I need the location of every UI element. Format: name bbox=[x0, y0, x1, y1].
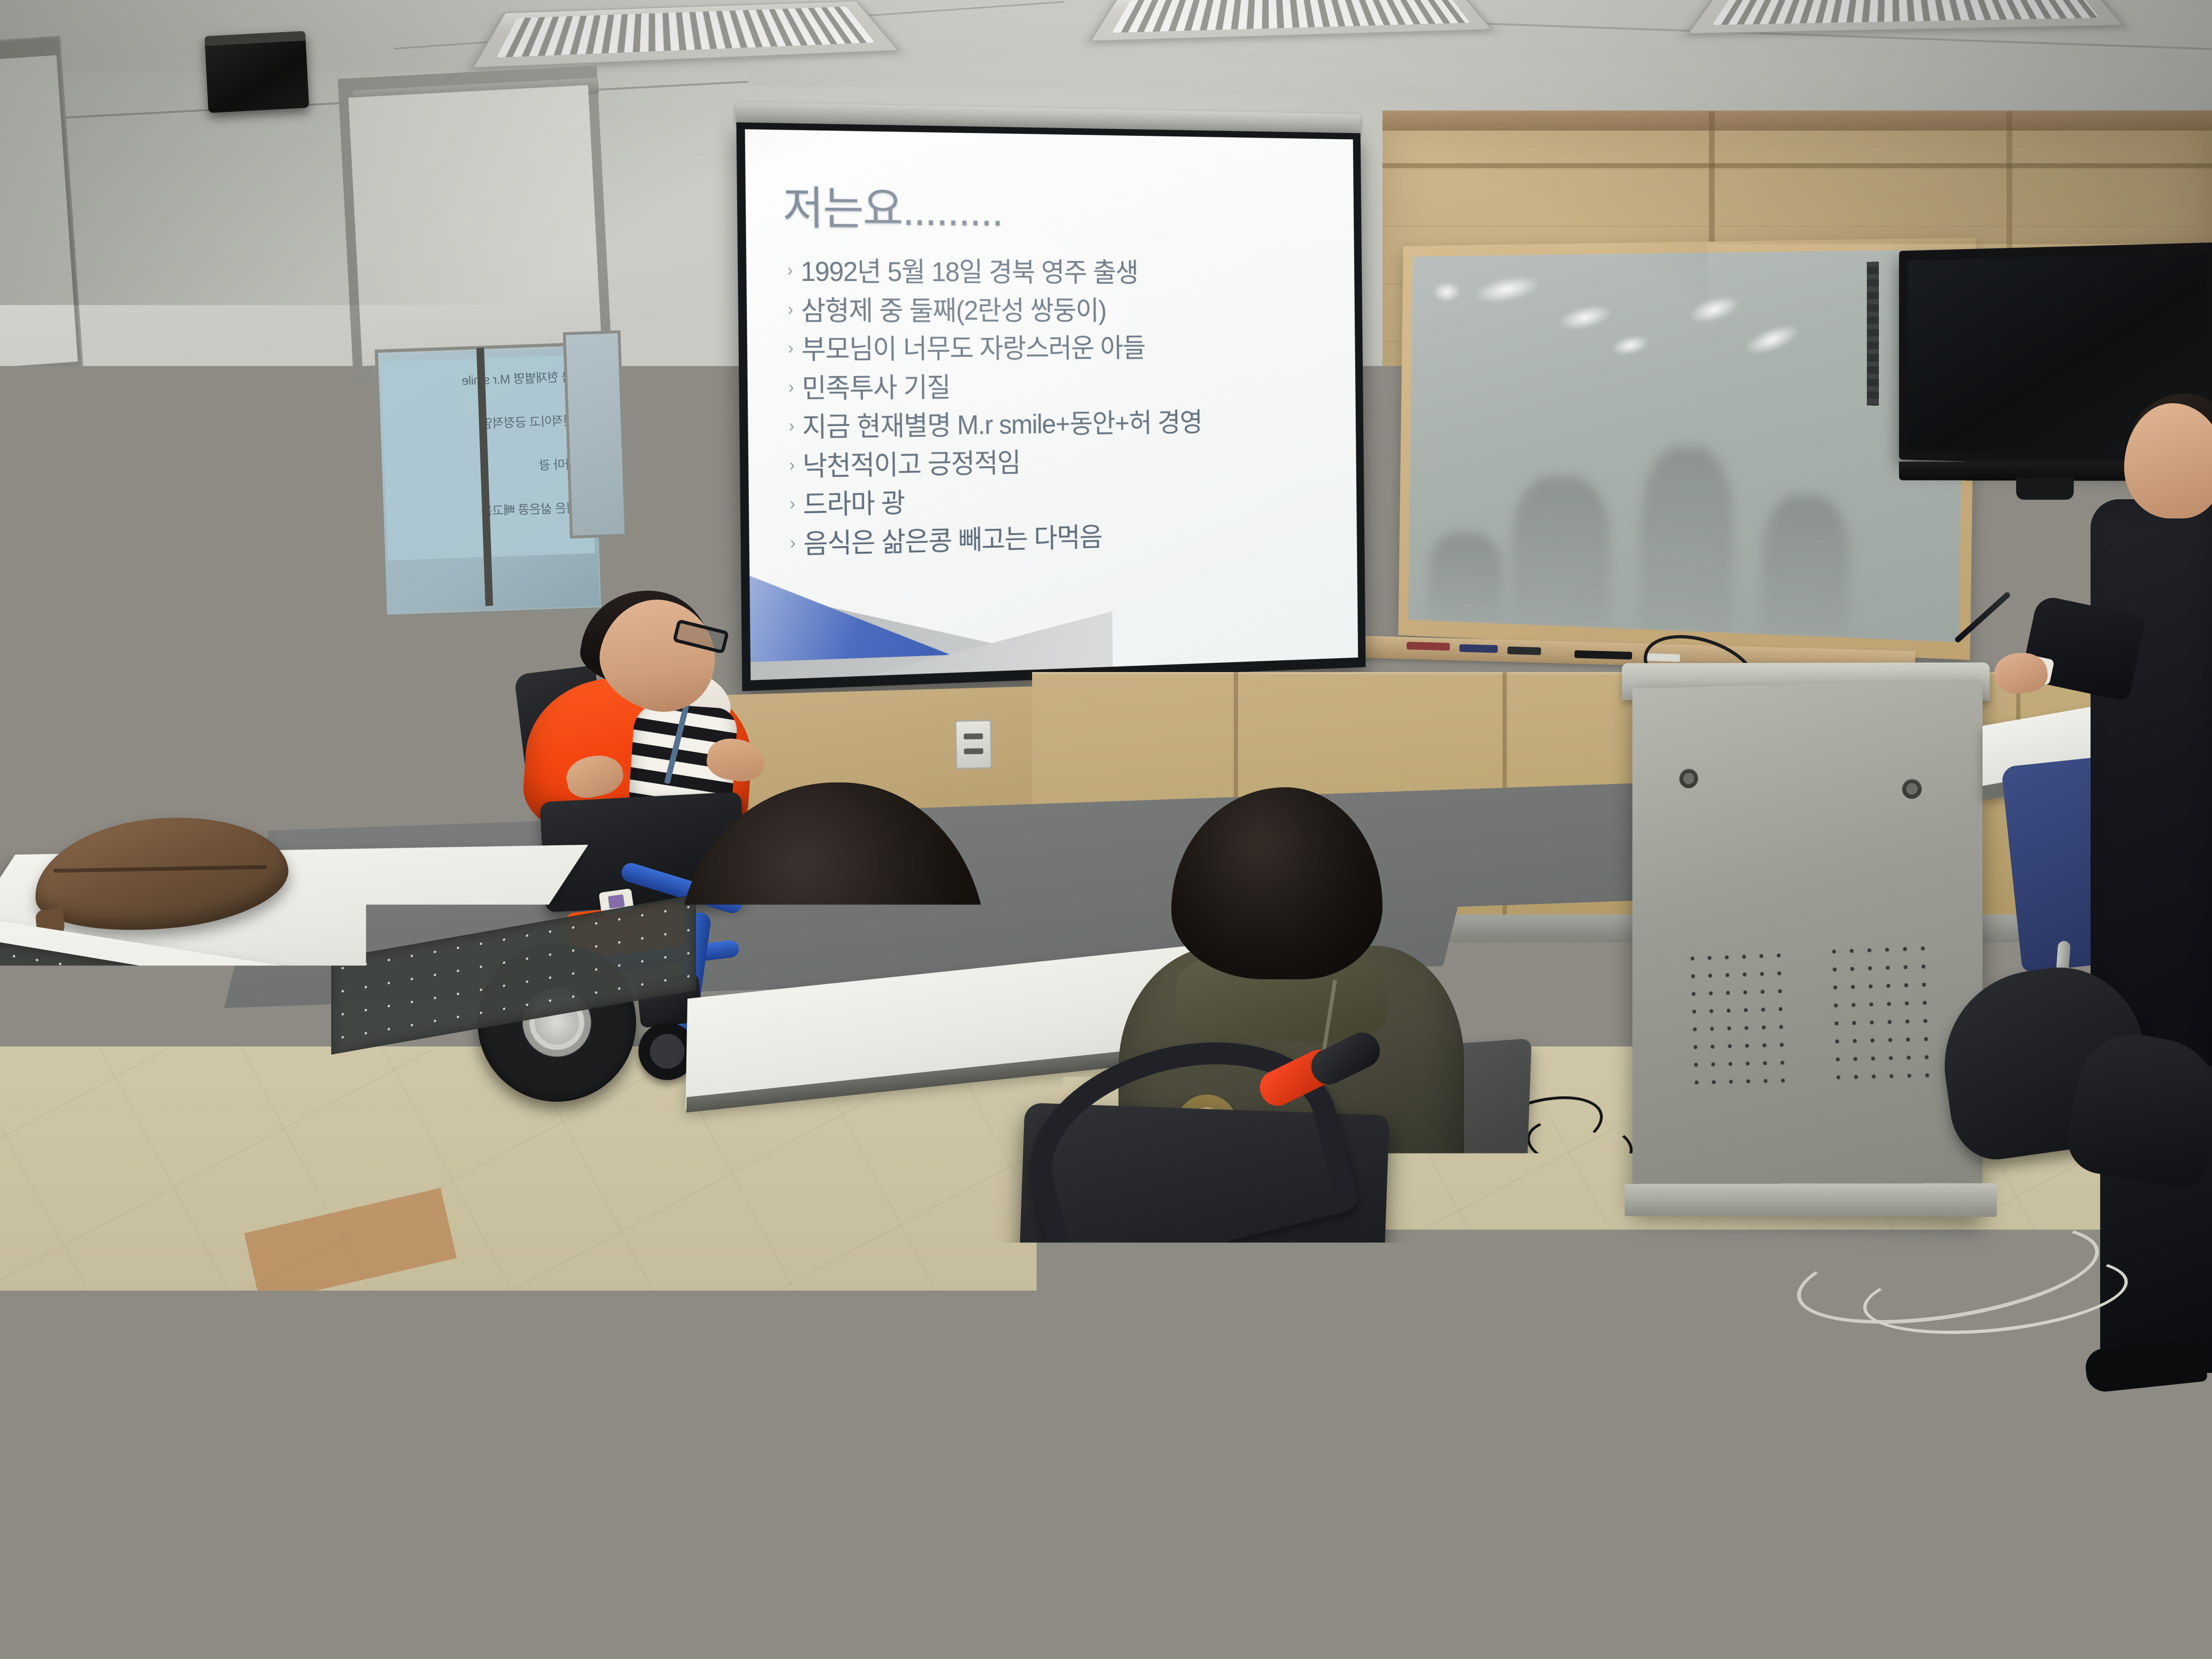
slide-bullet: › 지금 현재별명 M.r smile+동안+허 경영 bbox=[789, 406, 1339, 444]
whiteboard[interactable] bbox=[1408, 249, 1964, 642]
standing-facilitator bbox=[2091, 403, 2212, 1387]
bullet-marker-icon: › bbox=[787, 296, 793, 323]
window-glass bbox=[563, 330, 628, 539]
bullet-marker-icon: › bbox=[788, 373, 793, 401]
slide-decoration bbox=[749, 551, 1108, 680]
bullet-text: 지금 현재별명 M.r smile+동안+허 경영 bbox=[802, 408, 1202, 443]
podium-lock[interactable] bbox=[1902, 779, 1922, 799]
lectern[interactable] bbox=[1633, 679, 1983, 1217]
tv-wall-mount bbox=[2016, 478, 2074, 500]
bullet-text: 낙천적이고 긍정적임 bbox=[803, 448, 1021, 482]
podium-lock[interactable] bbox=[1679, 769, 1698, 788]
bullet-text: 1992년 5월 18일 경북 영주 출생 bbox=[800, 257, 1138, 289]
bullet-text: 민족투사 기질 bbox=[802, 372, 950, 404]
foreground-power-wheelchair: Powered by Able Power bbox=[941, 1037, 1507, 1659]
bullet-marker-icon: › bbox=[790, 529, 795, 557]
bullet-marker-icon: › bbox=[789, 451, 794, 479]
podium-base bbox=[1624, 1183, 1997, 1217]
cup-label: Classic bbox=[595, 1192, 618, 1200]
bullet-marker-icon: › bbox=[788, 335, 793, 362]
bullet-text: 부모님이 너무도 자랑스러운 아들 bbox=[801, 333, 1145, 366]
wood-seam bbox=[1382, 163, 2212, 168]
bullet-text: 삼형제 중 둘째(2란성 쌍둥이) bbox=[801, 296, 1106, 327]
slide-bullet: › 낙천적이고 긍정적임 bbox=[789, 443, 1339, 482]
whiteboard-frame bbox=[1398, 238, 1976, 660]
power-outlet[interactable] bbox=[955, 720, 992, 769]
ceiling-speaker-icon bbox=[204, 31, 309, 113]
slide-bullet: › 삼형제 중 둘째(2란성 쌍둥이) bbox=[787, 296, 1338, 327]
podium-perforation bbox=[1683, 946, 1793, 1094]
bullet-marker-icon: › bbox=[790, 490, 795, 517]
slide-title: 저는요......... bbox=[782, 172, 1003, 239]
crutch-tip bbox=[454, 1380, 508, 1419]
screen-border: 저는요......... › 1992년 5월 18일 경북 영주 출생 › 삼… bbox=[736, 122, 1366, 691]
tv-side-buttons[interactable] bbox=[1867, 262, 1879, 406]
paper-cup: Classic bbox=[582, 1129, 650, 1220]
bullet-marker-icon: › bbox=[787, 256, 792, 284]
projected-slide: 저는요......... › 1992년 5월 18일 경북 영주 출생 › 삼… bbox=[745, 129, 1358, 680]
slide-bullet: › 민족투사 기질 bbox=[788, 370, 1339, 405]
slide-bullet: › 부모님이 너무도 자랑스러운 아들 bbox=[788, 333, 1338, 366]
projection-screen: 저는요......... › 1992년 5월 18일 경북 영주 출생 › 삼… bbox=[736, 122, 1366, 691]
roller-blind[interactable] bbox=[349, 85, 602, 366]
bullet-marker-icon: › bbox=[789, 412, 794, 440]
podium-perforation bbox=[1825, 939, 1938, 1089]
presentation-room-photo: 지금 현재별명 M.r smile 낙천적이고 긍정적임 드라마 광 음식은 삶… bbox=[0, 0, 2212, 1659]
wood-trim bbox=[1382, 111, 2212, 131]
audience-teal-sweater bbox=[0, 1166, 307, 1659]
slide-bullet: › 드라마 광 bbox=[790, 480, 1340, 522]
slide-bullet: › 1992년 5월 18일 경북 영주 출생 bbox=[787, 256, 1337, 289]
tissue-box bbox=[3, 569, 105, 630]
bullet-text: 드라마 광 bbox=[803, 488, 904, 521]
slide-bullet-list: › 1992년 5월 18일 경북 영주 출생 › 삼형제 중 둘째(2란성 쌍… bbox=[787, 256, 1340, 568]
